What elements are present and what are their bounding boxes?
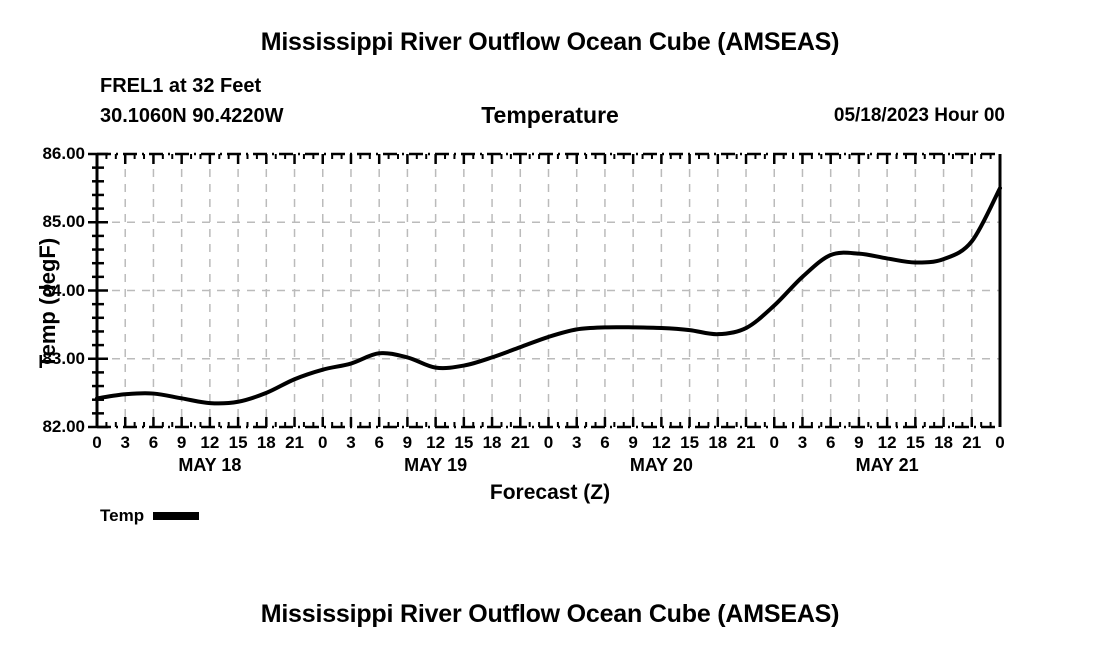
x-axis-day-label: MAY 18 xyxy=(140,455,280,476)
y-tick-label: 83.00 xyxy=(5,349,85,369)
y-tick-label: 85.00 xyxy=(5,212,85,232)
x-axis-day-label: MAY 21 xyxy=(817,455,957,476)
x-axis-day-label: MAY 19 xyxy=(366,455,506,476)
legend-item-label: Temp xyxy=(100,506,144,526)
chart-page: Mississippi River Outflow Ocean Cube (AM… xyxy=(0,0,1100,650)
x-tick-label: 0 xyxy=(980,433,1020,453)
legend: Temp xyxy=(100,506,199,526)
legend-item-swatch xyxy=(153,512,199,520)
y-tick-label: 86.00 xyxy=(5,144,85,164)
y-tick-label: 82.00 xyxy=(5,417,85,437)
y-tick-label: 84.00 xyxy=(5,281,85,301)
footer-title: Mississippi River Outflow Ocean Cube (AM… xyxy=(0,600,1100,629)
plot-area xyxy=(0,0,1100,650)
chart-svg xyxy=(0,0,1100,650)
x-axis-day-label: MAY 20 xyxy=(591,455,731,476)
